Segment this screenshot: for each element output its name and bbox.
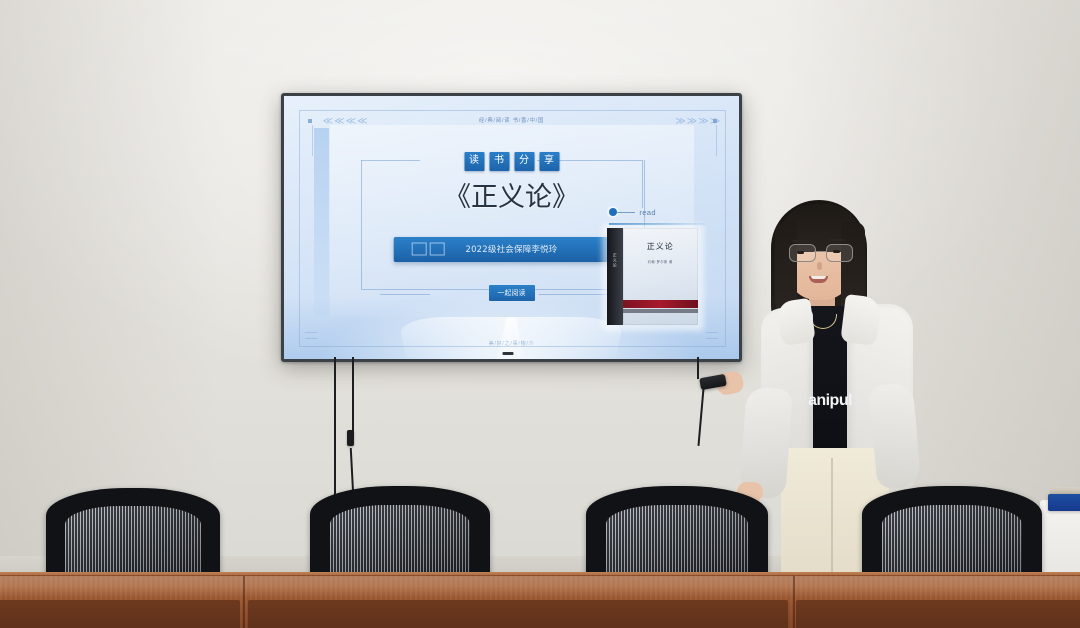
eye-left — [797, 251, 804, 254]
wall-mounted-display[interactable]: ≪≪≪≪ ≫≫≫≫ 经/典/阅/读 书/香/中/国 美/好/之/事/物/介 读 — [281, 93, 742, 362]
display-brand-logo — [503, 352, 514, 355]
chair-mesh-back — [606, 505, 748, 578]
table-front-panel-left — [0, 600, 240, 628]
teeth — [811, 276, 826, 279]
corner-dot-top-left — [308, 119, 312, 123]
book-front-cover: 正义论 约翰·罗尔斯 著 — [623, 228, 699, 325]
tick-left-bottom-2 — [305, 338, 317, 339]
tick-left-vertical — [312, 125, 313, 157]
table-front-panel-mid — [248, 600, 788, 628]
chair-4[interactable] — [862, 486, 1042, 580]
eyebrow-left — [792, 240, 808, 242]
chair-mesh-shading — [882, 505, 1022, 578]
book-cover-graphic: 正义论 正义论 约翰·罗尔斯 著 — [607, 228, 698, 325]
chair-mesh-back — [65, 506, 201, 578]
tick-right-bottom — [706, 332, 718, 333]
tick-right-vertical — [716, 125, 717, 157]
eyebrow-right — [829, 239, 845, 241]
title-rect-top-left-seg — [361, 160, 420, 161]
book-dark-band — [623, 309, 699, 313]
table-seam-left — [243, 576, 245, 628]
corner-chevrons-left: ≪≪≪≪ — [323, 116, 369, 127]
badge-row: 读 书 分 享 — [464, 152, 559, 171]
read-label: read — [639, 208, 656, 217]
hoodie-collar-left — [776, 298, 816, 346]
chair-2[interactable] — [310, 486, 490, 580]
glasses-lens-right — [826, 244, 853, 262]
slide-bottom-banner: 美/好/之/事/物/介 — [489, 340, 535, 347]
meeting-room-photo: ≪≪≪≪ ≫≫≫≫ 经/典/阅/读 书/香/中/国 美/好/之/事/物/介 读 — [0, 0, 1080, 628]
tshirt-graphic-text: anipul — [791, 392, 869, 410]
nose — [817, 262, 822, 270]
hoodie-sleeve-right — [869, 382, 922, 489]
display-cable-left-b — [352, 357, 354, 433]
badge-char-1: 读 — [464, 152, 484, 171]
eye-right — [833, 250, 840, 253]
book-cover-subtitle: 约翰·罗尔斯 著 — [648, 259, 673, 264]
chair-mesh-shading — [606, 505, 748, 578]
tick-right-bottom-2 — [706, 338, 718, 339]
subtitle-box-1 — [412, 243, 427, 256]
wall-left-shadow — [0, 0, 220, 560]
chair-3[interactable] — [586, 486, 768, 580]
chair-1[interactable] — [46, 488, 220, 580]
read-connector-vertical — [642, 161, 643, 208]
tick-left-bottom — [305, 332, 317, 333]
read-connector-line — [617, 212, 635, 213]
table-front-panel-right — [796, 600, 1080, 628]
trouser-fold — [831, 458, 833, 584]
book-spine-text: 正义论 — [612, 253, 618, 268]
corner-chevrons-right: ≫≫≫≫ — [675, 116, 721, 127]
slide-subtitle-bar: 2022级社会保障李悦玲 — [393, 237, 630, 262]
read-dot-icon — [609, 208, 617, 216]
slide-subtitle-text: 2022级社会保障李悦玲 — [465, 243, 557, 255]
read-together-line-left — [380, 294, 430, 295]
cable-clip — [347, 430, 354, 446]
subtitle-outline-boxes — [412, 243, 445, 256]
badge-char-4: 享 — [539, 152, 559, 171]
chair-mesh-shading — [330, 505, 470, 578]
table-seam-right — [793, 576, 795, 628]
display-panel: ≪≪≪≪ ≫≫≫≫ 经/典/阅/读 书/香/中/国 美/好/之/事/物/介 读 — [284, 96, 739, 359]
chair-mesh-back — [330, 505, 470, 578]
table-gloss-highlight — [0, 576, 1080, 598]
book-cover-title: 正义论 — [647, 241, 674, 252]
hoodie-collar-right — [840, 294, 882, 346]
glasses-bridge — [814, 251, 826, 252]
slide-top-banner: 经/典/阅/读 书/香/中/国 — [479, 116, 544, 124]
subtitle-box-2 — [430, 243, 445, 256]
book-spine: 正义论 — [607, 228, 622, 325]
read-marker: read — [609, 208, 656, 217]
presentation-slide: ≪≪≪≪ ≫≫≫≫ 经/典/阅/读 书/香/中/国 美/好/之/事/物/介 读 — [284, 96, 739, 359]
display-cable-right — [697, 357, 699, 379]
chair-mesh-shading — [65, 506, 201, 578]
badge-char-2: 书 — [489, 152, 509, 171]
book-red-band — [623, 300, 699, 309]
blue-package-box — [1048, 494, 1080, 511]
chair-mesh-back — [882, 505, 1022, 578]
badge-char-3: 分 — [514, 152, 534, 171]
read-together-button: 一起阅读 — [489, 285, 535, 301]
slide-title: 《正义论》 — [444, 184, 579, 211]
